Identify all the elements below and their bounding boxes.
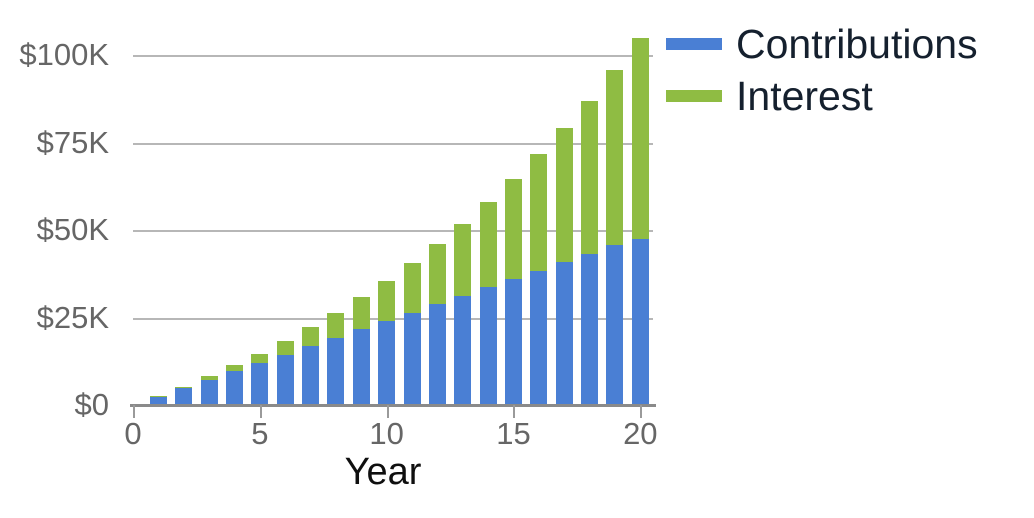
- bar-segment-interest[interactable]: [175, 387, 192, 389]
- bar-segment-contributions[interactable]: [581, 254, 598, 405]
- bar-group[interactable]: [530, 20, 547, 405]
- bar-group[interactable]: [632, 20, 649, 405]
- x-axis-tick-label: 15: [496, 417, 530, 450]
- bar-segment-interest[interactable]: [505, 179, 522, 279]
- bar-segment-contributions[interactable]: [277, 355, 294, 405]
- bar-segment-interest[interactable]: [530, 154, 547, 270]
- plot-area: [133, 20, 653, 405]
- y-axis-tick-label: $50K: [0, 214, 125, 245]
- bar-segment-interest[interactable]: [251, 354, 268, 363]
- y-axis-tick-label: $100K: [0, 39, 125, 70]
- bar-segment-interest[interactable]: [277, 341, 294, 355]
- legend-item-contributions[interactable]: Contributions: [666, 18, 1026, 70]
- bar-segment-contributions[interactable]: [226, 371, 243, 405]
- legend-label-contributions: Contributions: [736, 22, 978, 66]
- bar-segment-contributions[interactable]: [251, 363, 268, 405]
- legend-swatch-interest: [666, 90, 722, 102]
- bar-segment-contributions[interactable]: [606, 245, 623, 405]
- x-axis-tick-label: 5: [251, 417, 268, 450]
- bar-group[interactable]: [353, 20, 370, 405]
- legend-item-interest[interactable]: Interest: [666, 70, 1026, 122]
- bar-segment-interest[interactable]: [581, 101, 598, 254]
- bar-group[interactable]: [175, 20, 192, 405]
- bar-group[interactable]: [302, 20, 319, 405]
- bar-segment-interest[interactable]: [429, 244, 446, 304]
- bar-group[interactable]: [150, 20, 167, 405]
- bar-segment-contributions[interactable]: [480, 287, 497, 405]
- bar-group[interactable]: [581, 20, 598, 405]
- bar-group[interactable]: [505, 20, 522, 405]
- chart-legend: Contributions Interest: [666, 18, 1026, 122]
- bar-segment-contributions[interactable]: [505, 279, 522, 405]
- bar-group[interactable]: [480, 20, 497, 405]
- bar-segment-interest[interactable]: [226, 365, 243, 371]
- bar-segment-interest[interactable]: [353, 297, 370, 329]
- bar-segment-contributions[interactable]: [327, 338, 344, 405]
- legend-label-interest: Interest: [736, 74, 873, 118]
- bar-segment-interest[interactable]: [302, 327, 319, 346]
- bar-segment-interest[interactable]: [150, 396, 167, 397]
- bar-group[interactable]: [201, 20, 218, 405]
- bar-group[interactable]: [556, 20, 573, 405]
- bar-group[interactable]: [327, 20, 344, 405]
- x-axis-tick-label: 0: [124, 417, 141, 450]
- bar-segment-contributions[interactable]: [302, 346, 319, 405]
- bar-segment-contributions[interactable]: [201, 380, 218, 405]
- bar-group[interactable]: [404, 20, 421, 405]
- bar-segment-contributions[interactable]: [632, 239, 649, 405]
- y-axis-tick-label: $75K: [0, 127, 125, 158]
- x-axis-tick-label: 10: [369, 417, 403, 450]
- bar-segment-interest[interactable]: [606, 70, 623, 245]
- bar-group[interactable]: [429, 20, 446, 405]
- bar-group[interactable]: [606, 20, 623, 405]
- bar-segment-contributions[interactable]: [378, 321, 395, 405]
- bar-segment-contributions[interactable]: [530, 271, 547, 405]
- bar-segment-contributions[interactable]: [404, 313, 421, 405]
- bar-group[interactable]: [378, 20, 395, 405]
- bar-segment-interest[interactable]: [327, 313, 344, 338]
- bar-segment-interest[interactable]: [454, 224, 471, 296]
- x-axis: 05101520: [133, 405, 653, 455]
- y-axis-tick-label: $0: [0, 389, 125, 420]
- bar-segment-contributions[interactable]: [353, 329, 370, 405]
- bar-segment-interest[interactable]: [404, 263, 421, 313]
- x-axis-tick-label: 20: [623, 417, 657, 450]
- bar-group[interactable]: [277, 20, 294, 405]
- bar-segment-interest[interactable]: [480, 202, 497, 287]
- bar-segment-contributions[interactable]: [429, 304, 446, 405]
- x-axis-title: Year: [133, 450, 633, 495]
- bar-group[interactable]: [251, 20, 268, 405]
- bar-group[interactable]: [454, 20, 471, 405]
- bar-segment-interest[interactable]: [378, 281, 395, 321]
- bar-segment-contributions[interactable]: [175, 388, 192, 405]
- bar-segment-contributions[interactable]: [556, 262, 573, 405]
- legend-swatch-contributions: [666, 38, 722, 50]
- y-axis-labels: $0$25K$50K$75K$100K: [0, 20, 125, 405]
- bar-segment-interest[interactable]: [632, 38, 649, 239]
- chart-container: $0$25K$50K$75K$100K 05101520 Year Contri…: [0, 0, 1034, 518]
- bar-segment-interest[interactable]: [201, 376, 218, 380]
- bar-segment-interest[interactable]: [556, 128, 573, 262]
- bar-group[interactable]: [226, 20, 243, 405]
- bar-series-group: [133, 20, 653, 405]
- y-axis-tick-label: $25K: [0, 302, 125, 333]
- bar-segment-contributions[interactable]: [454, 296, 471, 405]
